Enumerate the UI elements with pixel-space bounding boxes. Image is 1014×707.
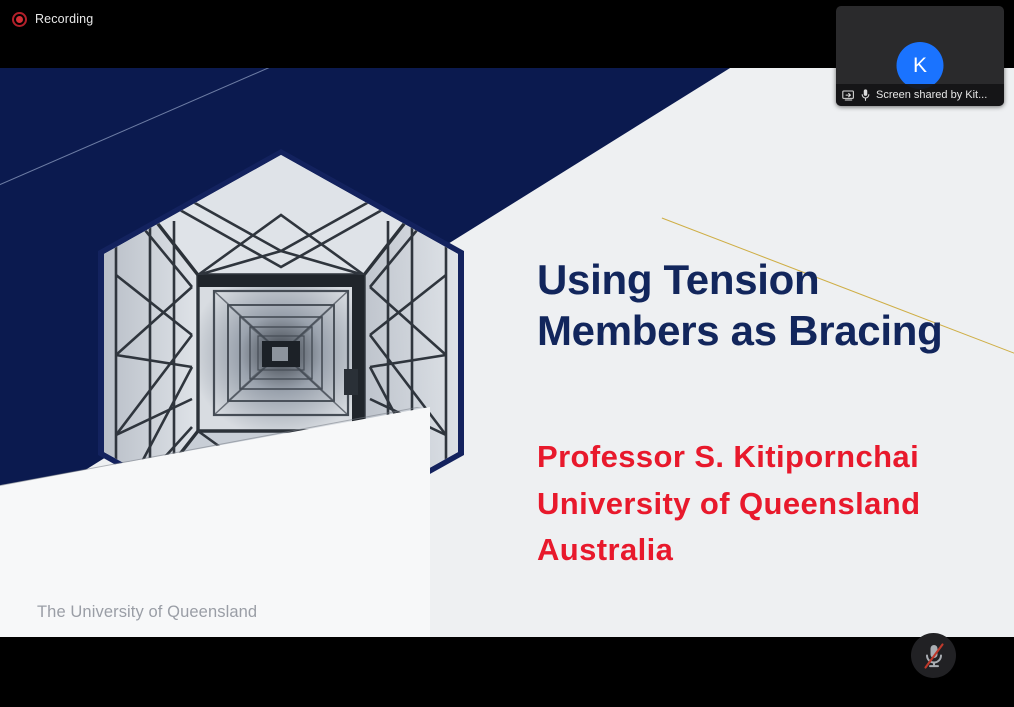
shared-screen-slide[interactable]: Using Tension Members as Bracing Profess… xyxy=(0,68,1014,637)
self-view-thumbnail[interactable]: K Screen shared by Kit... xyxy=(836,6,1004,106)
recording-indicator: Recording xyxy=(12,12,93,27)
record-dot-icon xyxy=(12,12,27,27)
presenter-affiliation: University of Queensland xyxy=(537,481,997,528)
video-call-screen-share-view: Recording xyxy=(0,0,1014,707)
avatar: K xyxy=(897,42,944,89)
recording-label: Recording xyxy=(35,13,93,26)
slide-title-line-2: Members as Bracing xyxy=(537,305,987,356)
self-view-statusbar: Screen shared by Kit... xyxy=(836,84,1004,106)
microphone-icon xyxy=(860,88,871,102)
microphone-muted-icon xyxy=(922,642,946,670)
microphone-mute-toggle[interactable] xyxy=(911,633,956,678)
slide-footer-org: The University of Queensland xyxy=(37,603,257,622)
self-view-status-label: Screen shared by Kit... xyxy=(876,90,987,101)
slide-title-line-1: Using Tension xyxy=(537,254,987,305)
slide-title: Using Tension Members as Bracing xyxy=(537,254,987,356)
presenter-name: Professor S. Kitipornchai xyxy=(537,434,997,481)
presenter-country: Australia xyxy=(537,527,997,574)
slide-presenter-block: Professor S. Kitipornchai University of … xyxy=(537,434,997,574)
screen-share-icon xyxy=(842,89,855,102)
